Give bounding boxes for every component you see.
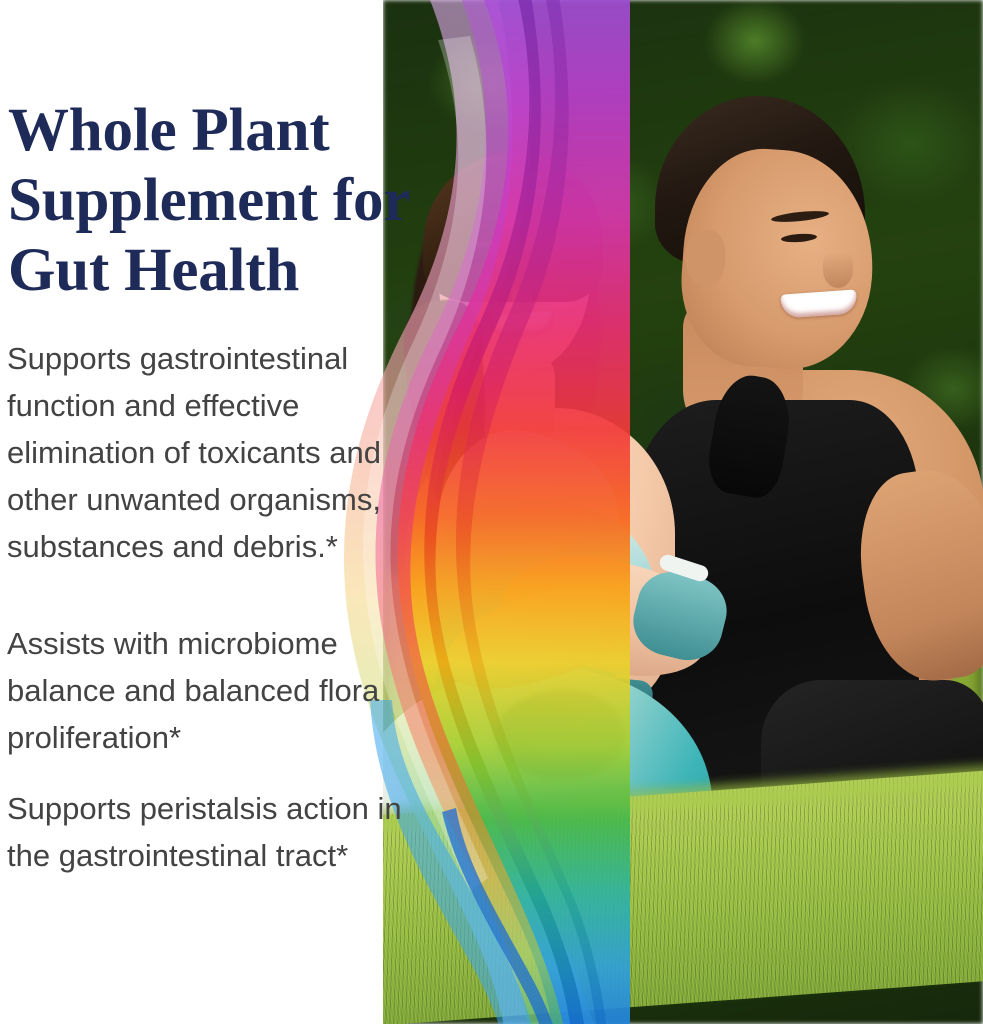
benefit-paragraph-1: Supports gastrointestinal function and e… [7,335,427,570]
page-title: Whole Plant Supplement for Gut Health [8,96,428,306]
benefit-paragraph-2: Assists with microbiome balance and bala… [7,620,427,761]
man-ear [685,230,725,286]
man-nose [823,252,853,288]
marketing-banner: Whole Plant Supplement for Gut Health Su… [0,0,983,1024]
text-panel: Whole Plant Supplement for Gut Health Su… [0,0,420,1024]
benefit-paragraph-3: Supports peristalsis action in the gastr… [7,785,427,879]
